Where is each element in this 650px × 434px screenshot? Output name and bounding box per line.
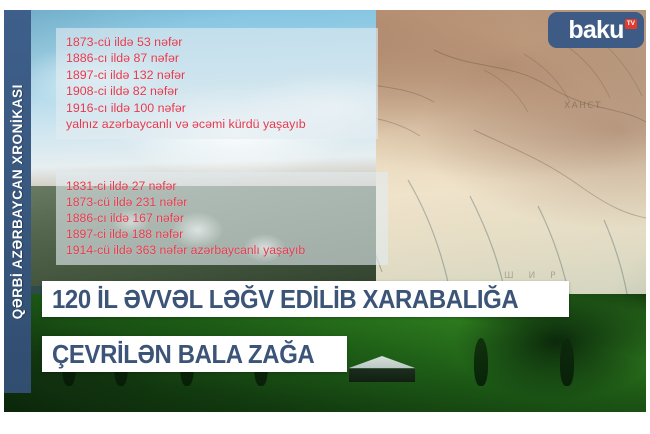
headline-band-line1: 120 İL ƏVVƏL LƏĞV EDİLİB XARABALIĞA [42, 281, 569, 317]
stat-line: 1873-cü ildə 231 nəfər [66, 194, 378, 210]
statistics-panel-lower: 1831-ci ildə 27 nəfər 1873-cü ildə 231 n… [56, 172, 388, 265]
stat-line: 1908-ci ildə 82 nəfər [66, 83, 368, 99]
stat-line: 1914-cü ildə 363 nəfər azərbaycanlı yaşa… [66, 242, 378, 258]
stat-line: 1897-ci ildə 132 nəfər [66, 67, 368, 83]
news-card: ХАНСТВО ШЕКИНСКОЕ (НУХИНСКОЕ) Ш И Р НАРО… [0, 0, 650, 434]
rubric-band: QƏRBİ AZƏRBAYCAN XRONİKASI [4, 10, 31, 393]
stat-line: 1873-cü ildə 53 nəfər [66, 34, 368, 50]
rubric-label: QƏRBİ AZƏRBAYCAN XRONİKASI [10, 84, 25, 319]
logo-tv-badge: TV [625, 19, 637, 29]
stat-line: 1831-ci ildə 27 nəfər [66, 178, 378, 194]
stat-line: 1886-cı ildə 87 nəfər [66, 50, 368, 66]
baku-tv-logo[interactable]: baku TV [548, 12, 644, 48]
statistics-panel-upper: 1873-cü ildə 53 nəfər 1886-cı ildə 87 nə… [56, 28, 378, 139]
stat-line: 1916-cı ildə 100 nəfər [66, 100, 368, 116]
logo-wordmark: baku [568, 18, 623, 43]
stat-line: yalnız azərbaycanlı və əcəmi kürdü yaşay… [66, 116, 368, 132]
headline-band-line2: ÇEVRİLƏN BALA ZAĞA [42, 336, 347, 372]
headline-line2: ÇEVRİLƏN BALA ZAĞA [52, 341, 314, 367]
headline-line1: 120 İL ƏVVƏL LƏĞV EDİLİB XARABALIĞA [52, 286, 518, 312]
stat-line: 1886-cı ildə 167 nəfər [66, 210, 378, 226]
stat-line: 1897-ci ildə 188 nəfər [66, 226, 378, 242]
